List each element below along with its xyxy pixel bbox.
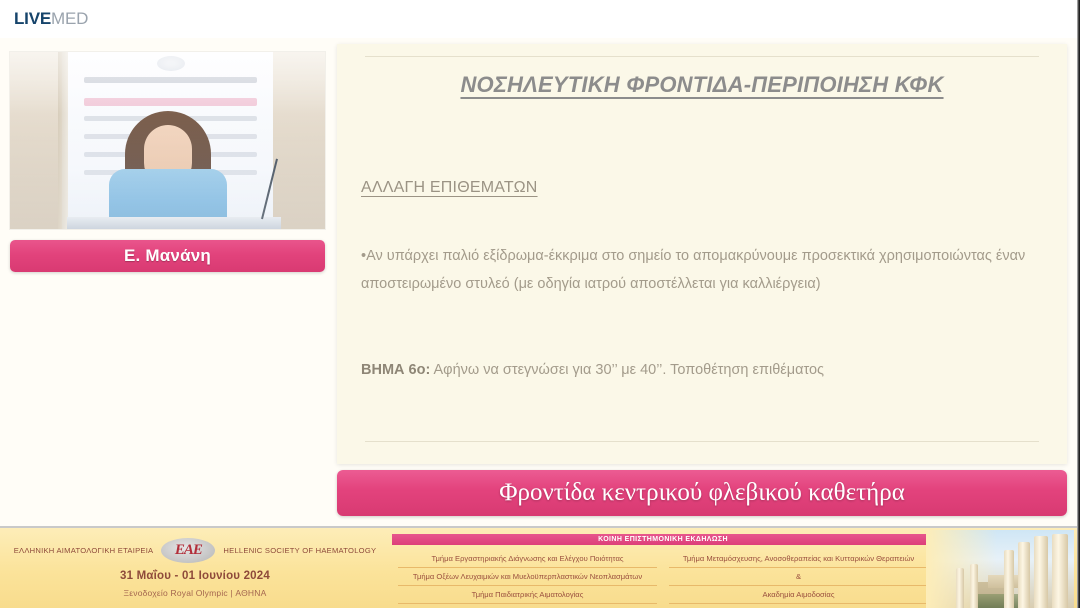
society-row: ΕΛΛΗΝΙΚΗ ΑΙΜΑΤΟΛΟΓΙΚΗ ΕΤΑΙΡΕΙΑ EAE HELLE… xyxy=(0,538,390,563)
temple-column xyxy=(1034,536,1048,608)
video-wall-left xyxy=(10,52,62,229)
society-logo-text: EAE xyxy=(175,542,202,559)
slide-divider-bottom xyxy=(365,441,1039,442)
footer-departments-block: ΚΟΙΝΗ ΕΠΙΣΤΗΜΟΝΙΚΗ ΕΚΔΗΛΩΣΗ Τμήμα Εργαστ… xyxy=(392,532,940,608)
video-wall-right xyxy=(273,52,325,229)
temple-column xyxy=(970,564,978,608)
footer-society-block: ΕΛΛΗΝΙΚΗ ΑΙΜΑΤΟΛΟΓΙΚΗ ΕΤΑΙΡΕΙΑ EAE HELLE… xyxy=(0,532,390,608)
speaker-name-bar: Ε. Μανάνη xyxy=(10,240,325,272)
department-item: Ακαδημία Αιμοδοσίας xyxy=(669,586,928,604)
banner-logo-icon xyxy=(157,56,185,71)
banner-pink-line xyxy=(84,98,256,106)
slide-step-description: Αφήνω να στεγνώσει για 30’’ με 40’’. Τοπ… xyxy=(430,362,824,378)
logo-med-text: MED xyxy=(51,9,88,28)
slide-subtitle: ΑΛΛΑΓΗ ΕΠΙΘΕΜΑΤΩΝ xyxy=(361,179,538,197)
footer-acropolis-image xyxy=(926,530,1074,608)
slide-body-text: •Αν υπάρχει παλιό εξίδρωμα-έκκριμα στο σ… xyxy=(361,242,1035,298)
podium xyxy=(67,217,281,229)
joint-event-bar: ΚΟΙΝΗ ΕΠΙΣΤΗΜΟΝΙΚΗ ΕΚΔΗΛΩΣΗ xyxy=(392,534,934,545)
speaker-figure xyxy=(102,111,234,229)
department-item: Τμήμα Οξέων Λευχαιμιών και Μυελοϋπερπλασ… xyxy=(398,568,657,586)
society-logo-icon: EAE xyxy=(161,538,215,563)
banner-title-line xyxy=(84,77,256,83)
conference-footer: ΕΛΛΗΝΙΚΗ ΑΙΜΑΤΟΛΟΓΙΚΗ ΕΤΑΙΡΕΙΑ EAE HELLE… xyxy=(0,526,1077,608)
society-name-english: HELLENIC SOCIETY OF HAEMATOLOGY xyxy=(223,546,376,555)
slide-panel[interactable]: ΝΟΣΗΛΕΥΤΙΚΗ ΦΡΟΝΤΙΔΑ-ΠΕΡΙΠΟΙΗΣΗ ΚΦΚ ΑΛΛΑ… xyxy=(337,44,1067,464)
departments-column-left: Τμήμα Εργαστηριακής Διάγνωσης και Ελέγχο… xyxy=(392,550,663,606)
speaker-video-player[interactable] xyxy=(10,52,325,229)
slide-content: ΝΟΣΗΛΕΥΤΙΚΗ ΦΡΟΝΤΙΔΑ-ΠΕΡΙΠΟΙΗΣΗ ΚΦΚ ΑΛΛΑ… xyxy=(337,44,1067,464)
slide-step-label: ΒΗΜΑ 6ο: xyxy=(361,362,430,378)
department-item: Τμήμα Παιδιατρικής Αιματολογίας xyxy=(398,586,657,604)
logo-live-text: LIVE xyxy=(14,9,51,28)
departments-column-right: Τμήμα Μεταμόσχευσης, Ανοσοθεραπείας και … xyxy=(663,550,934,606)
temple-column xyxy=(1052,534,1068,608)
temple-column xyxy=(1018,542,1030,608)
slide-title: ΝΟΣΗΛΕΥΤΙΚΗ ΦΡΟΝΤΙΔΑ-ΠΕΡΙΠΟΙΗΣΗ ΚΦΚ xyxy=(337,72,1067,98)
conference-venue: Ξενοδοχείο Royal Olympic | ΑΘΗΝΑ xyxy=(0,588,390,598)
departments-columns: Τμήμα Εργαστηριακής Διάγνωσης και Ελέγχο… xyxy=(392,550,934,606)
slide-step-text: ΒΗΜΑ 6ο: Αφήνω να στεγνώσει για 30’’ με … xyxy=(361,357,1035,383)
header-bar: LIVEMED xyxy=(0,0,1077,38)
joint-event-label: ΚΟΙΝΗ ΕΠΙΣΤΗΜΟΝΙΚΗ ΕΚΔΗΛΩΣΗ xyxy=(598,536,728,543)
department-item: Τμήμα Εργαστηριακής Διάγνωσης και Ελέγχο… xyxy=(398,550,657,568)
slide-divider-top xyxy=(365,56,1039,57)
department-item: Τμήμα Μεταμόσχευσης, Ανοσοθεραπείας και … xyxy=(669,550,928,568)
temple-column xyxy=(1004,550,1014,608)
acropolis-scene xyxy=(926,530,1074,608)
conference-dates: 31 Μαΐου - 01 Ιουνίου 2024 xyxy=(0,570,390,582)
temple-column xyxy=(956,568,964,608)
speaker-name-label: Ε. Μανάνη xyxy=(124,246,211,266)
session-topic-bar: Φροντίδα κεντρικού φλεβικού καθετήρα xyxy=(337,470,1067,516)
session-topic-label: Φροντίδα κεντρικού φλεβικού καθετήρα xyxy=(499,479,905,507)
society-name-greek: ΕΛΛΗΝΙΚΗ ΑΙΜΑΤΟΛΟΓΙΚΗ ΕΤΑΙΡΕΙΑ xyxy=(14,546,154,555)
department-separator: & xyxy=(669,568,928,586)
speaker-shirt xyxy=(109,169,227,223)
presentation-viewer: LIVEMED Ε. Μανάνη xyxy=(0,0,1080,608)
livemed-logo[interactable]: LIVEMED xyxy=(14,9,88,29)
